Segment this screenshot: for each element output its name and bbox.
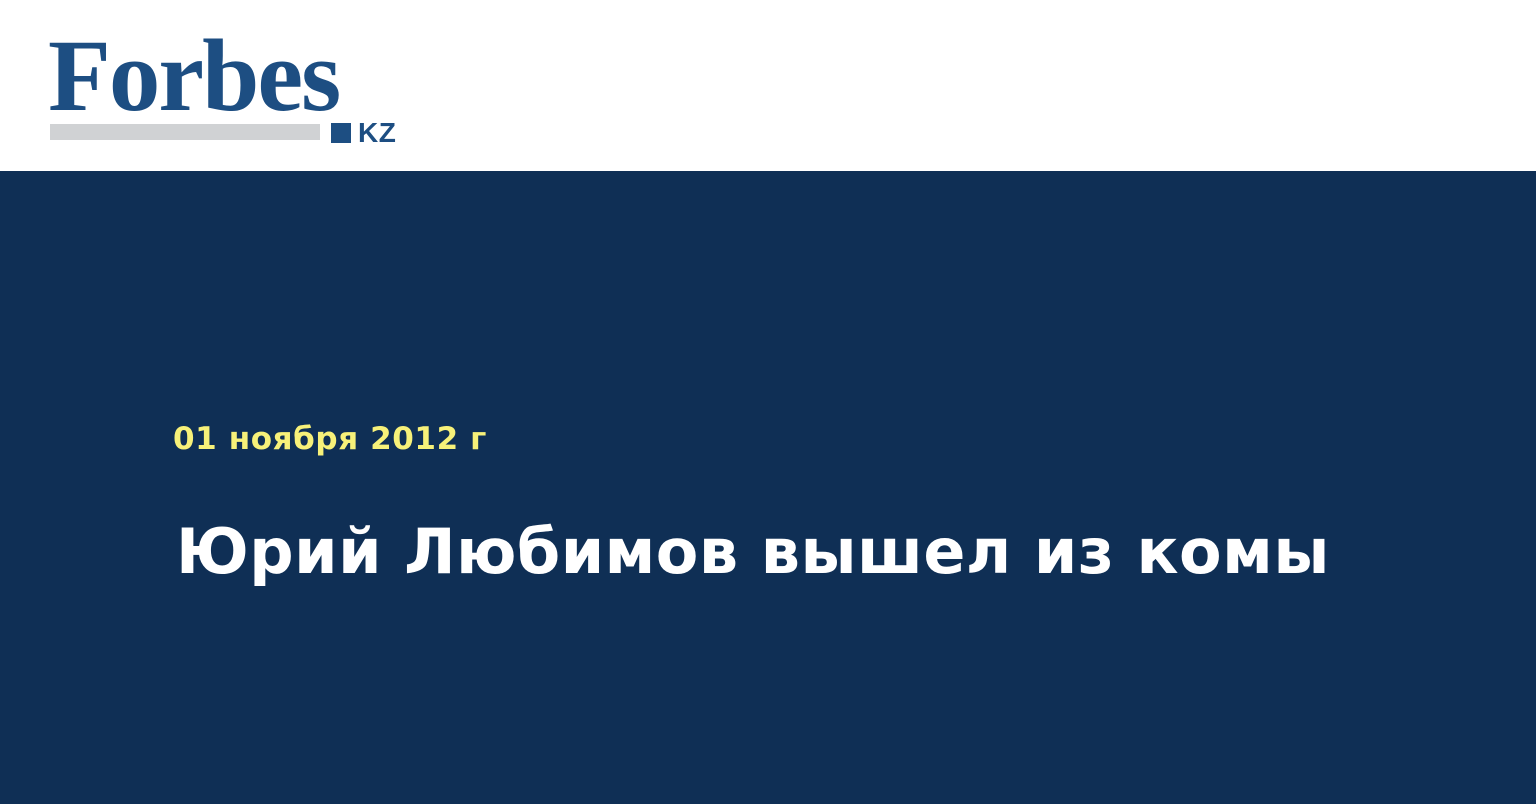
logo-square-icon — [331, 123, 351, 143]
logo-underline-bar — [50, 124, 320, 140]
article-publish-date: 01 ноября 2012 г — [173, 420, 487, 458]
site-header: Forbes kz — [0, 0, 1536, 171]
logo-domain-suffix: kz — [358, 119, 396, 147]
article-headline: Юрий Любимов вышел из комы — [176, 516, 1376, 588]
article-hero: 01 ноября 2012 г Юрий Любимов вышел из к… — [0, 171, 1536, 804]
logo-wordmark-text: Forbes — [48, 26, 339, 126]
article-page: Forbes kz 01 ноября 2012 г Юрий Любимов … — [0, 0, 1536, 804]
forbes-kz-logo[interactable]: Forbes kz — [48, 26, 408, 146]
